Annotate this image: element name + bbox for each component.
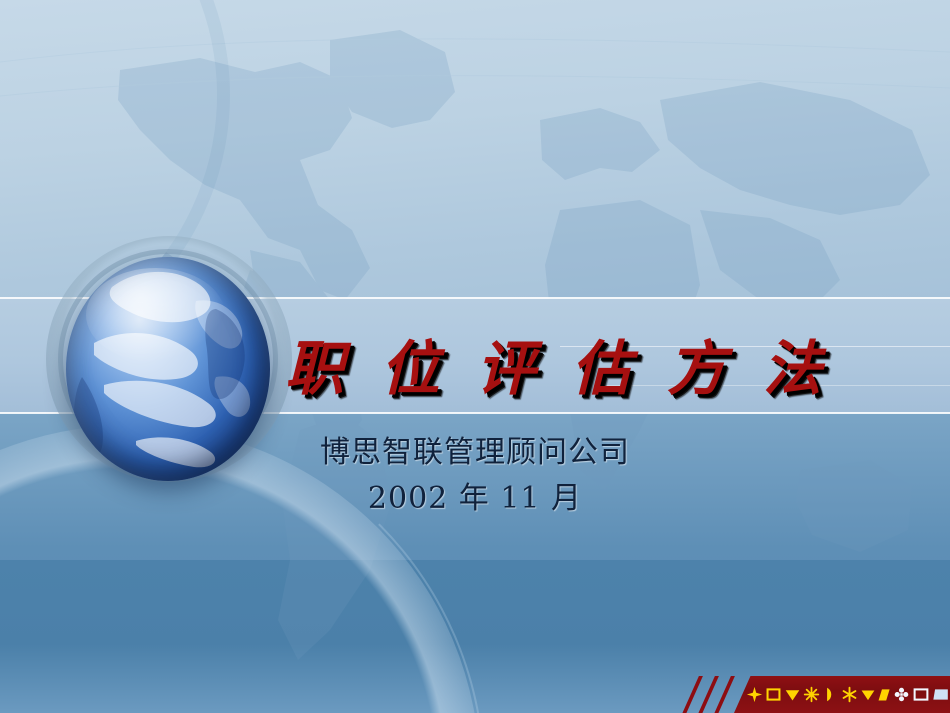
banner-glyph-row	[744, 679, 950, 710]
square-outline-icon	[912, 686, 930, 703]
presentation-slide: 职 位 评 估 方 法 博思智联管理顾问公司 2002 年 11 月	[0, 0, 950, 713]
half-disc-icon	[822, 686, 839, 703]
parallelogram-icon	[878, 686, 891, 703]
company-name: 博思智联管理顾问公司	[0, 432, 950, 474]
presentation-date: 2002 年 11 月	[0, 478, 950, 520]
square-outline-icon	[765, 686, 782, 703]
clover-icon	[893, 686, 910, 703]
square-filled-icon	[932, 686, 950, 703]
page-title: 职 位 评 估 方 法	[285, 321, 765, 406]
asterisk-icon	[841, 686, 858, 703]
triangle-down-icon	[784, 686, 801, 703]
cross-star-icon	[746, 686, 763, 703]
snowflake-icon	[803, 686, 820, 703]
subtitle-block: 博思智联管理顾问公司 2002 年 11 月	[0, 432, 950, 520]
triangle-down-icon	[860, 686, 876, 703]
